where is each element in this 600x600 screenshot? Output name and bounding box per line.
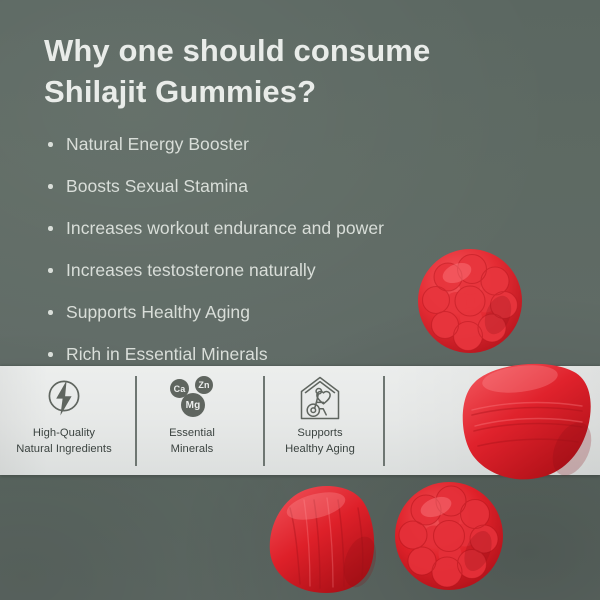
badge-label: Supports Healthy Aging (285, 426, 355, 458)
list-item: Boosts Sexual Stamina (44, 174, 544, 200)
badge-label: Essential Minerals (169, 426, 215, 458)
strawberry-gummy-bottom-center (256, 474, 392, 600)
list-item: Increases testosterone naturally (44, 258, 544, 284)
headline-line-1: Why one should consume (44, 31, 544, 72)
badge-label: High-Quality Natural Ingredients (16, 426, 111, 458)
badge-divider-3 (383, 376, 385, 466)
raspberry-gummy-bottom-right (388, 475, 512, 599)
list-item: Increases workout endurance and power (44, 216, 544, 242)
badge-divider-2 (263, 376, 265, 466)
element-circle-mg: Mg (181, 393, 205, 417)
list-item: Natural Energy Booster (44, 132, 544, 158)
page-title: Why one should consume Shilajit Gummies? (44, 31, 544, 113)
product-benefits-poster: High-Quality Natural Ingredients Ca Zn M… (0, 0, 600, 600)
list-item: Rich in Essential Minerals (44, 342, 544, 368)
benefits-list: Natural Energy Booster Boosts Sexual Sta… (44, 132, 544, 384)
badge-divider-1 (135, 376, 137, 466)
list-item: Supports Healthy Aging (44, 300, 544, 326)
headline-line-2: Shilajit Gummies? (44, 72, 544, 113)
